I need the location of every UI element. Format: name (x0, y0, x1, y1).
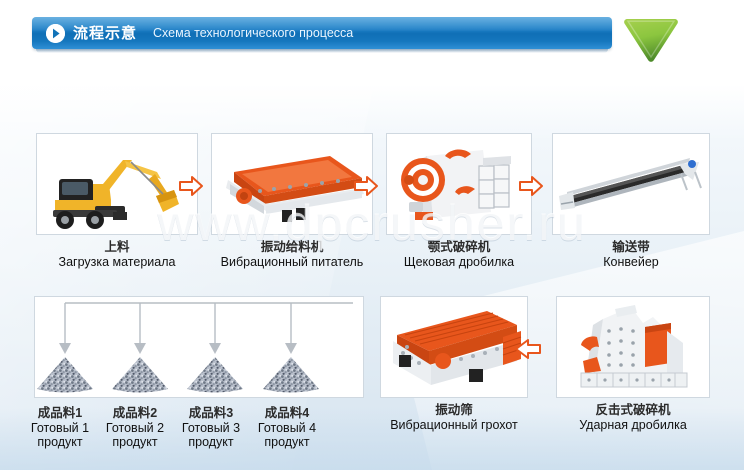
product-label-ru-line1: Готовый 2 (95, 421, 175, 435)
product-label-ru-line1: Готовый 1 (20, 421, 100, 435)
step-label-ru: Вибрационный питатель (211, 255, 373, 270)
caption: 颚式破碎机 Щековая дробилка (386, 240, 532, 270)
step-label-cn: 反击式破碎机 (556, 403, 710, 418)
step-label-ru: Ударная дробилка (556, 418, 710, 433)
caption: 振动筛 Вибрационный грохот (380, 403, 528, 433)
impact-crusher-photo (556, 296, 710, 398)
process-step-feeder[interactable]: 振动给料机 Вибрационный питатель (211, 133, 373, 270)
arrow-right-icon (353, 173, 379, 199)
step-label-ru: Загрузка материала (36, 255, 198, 270)
play-circle-icon (46, 24, 65, 43)
jaw-crusher-photo (386, 133, 532, 235)
process-row-top: 上料 Загрузка материала (0, 133, 744, 278)
excavator-photo (36, 133, 198, 235)
caption: 反击式破碎机 Ударная дробилка (556, 403, 710, 433)
caption: 上料 Загрузка материала (36, 240, 198, 270)
product-label-cn: 成品料4 (247, 402, 327, 421)
product-4[interactable]: 成品料4 Готовый 4 продукт (247, 402, 327, 449)
step-label-ru: Щековая дробилка (386, 255, 532, 270)
belt-conveyor-photo (552, 133, 710, 235)
process-step-conveyor[interactable]: 输送带 Конвейер (552, 133, 710, 270)
header-title-ru: Схема технологического процесса (153, 27, 353, 40)
step-label-ru: Конвейер (552, 255, 710, 270)
product-label-ru-line1: Готовый 4 (247, 421, 327, 435)
step-label-cn: 上料 (36, 240, 198, 255)
product-label-cn: 成品料1 (20, 402, 100, 421)
step-label-ru: Вибрационный грохот (380, 418, 528, 433)
vibrating-feeder-photo (211, 133, 373, 235)
product-label-ru-line2: продукт (95, 435, 175, 449)
process-row-bottom: 成品料1 Готовый 1 продукт 成品料2 Готовый 2 пр… (0, 296, 744, 461)
process-step-jaw-crusher[interactable]: 颚式破碎机 Щековая дробилка (386, 133, 532, 270)
vibrating-screen-photo (380, 296, 528, 398)
header-title-cn: 流程示意 (73, 26, 137, 41)
product-label-ru-line1: Готовый 3 (171, 421, 251, 435)
product-label-cn: 成品料3 (171, 402, 251, 421)
arrow-right-icon (178, 173, 204, 199)
green-down-triangle-icon (622, 16, 680, 64)
process-step-impact-crusher[interactable]: 反击式破碎机 Ударная дробилка (556, 296, 710, 433)
product-label-ru-line2: продукт (171, 435, 251, 449)
product-label-ru-line2: продукт (20, 435, 100, 449)
process-step-vibrating-screen[interactable]: 振动筛 Вибрационный грохот (380, 296, 528, 433)
step-label-cn: 振动筛 (380, 403, 528, 418)
step-label-cn: 输送带 (552, 240, 710, 255)
product-label-ru-line2: продукт (247, 435, 327, 449)
step-label-cn: 振动给料机 (211, 240, 373, 255)
flow-diagram-page: 流程示意 Схема технологического процесса (0, 0, 744, 470)
product-label-cn: 成品料2 (95, 402, 175, 421)
caption: 振动给料机 Вибрационный питатель (211, 240, 373, 270)
step-label-cn: 颚式破碎机 (386, 240, 532, 255)
product-3[interactable]: 成品料3 Готовый 3 продукт (171, 402, 251, 449)
finished-products-photo (34, 296, 364, 398)
product-1[interactable]: 成品料1 Готовый 1 продукт (20, 402, 100, 449)
product-2[interactable]: 成品料2 Готовый 2 продукт (95, 402, 175, 449)
arrow-left-icon (512, 336, 538, 362)
process-step-loading[interactable]: 上料 Загрузка материала (36, 133, 198, 270)
header: 流程示意 Схема технологического процесса (32, 17, 612, 51)
arrow-right-icon (518, 173, 544, 199)
caption: 输送带 Конвейер (552, 240, 710, 270)
